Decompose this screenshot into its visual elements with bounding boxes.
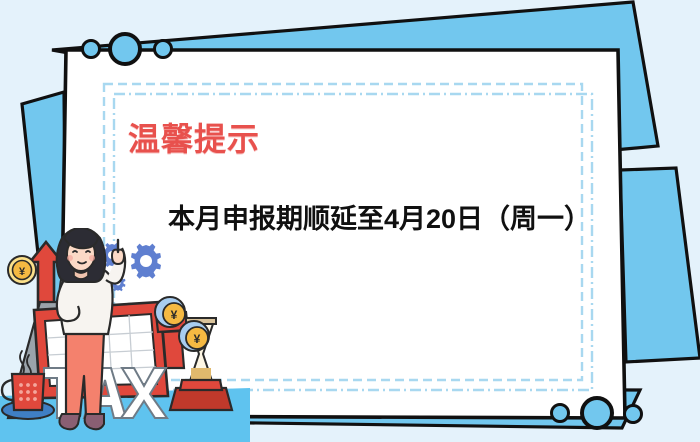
notice-title: 温馨提示 [128, 121, 260, 158]
notice-text-layer: 温馨提示 本月申报期顺延至4月20日（周一） [0, 0, 700, 442]
notice-body-text: 本月申报期顺延至4月20日（周一） [168, 203, 591, 235]
poster-canvas: ¥ [0, 0, 700, 442]
